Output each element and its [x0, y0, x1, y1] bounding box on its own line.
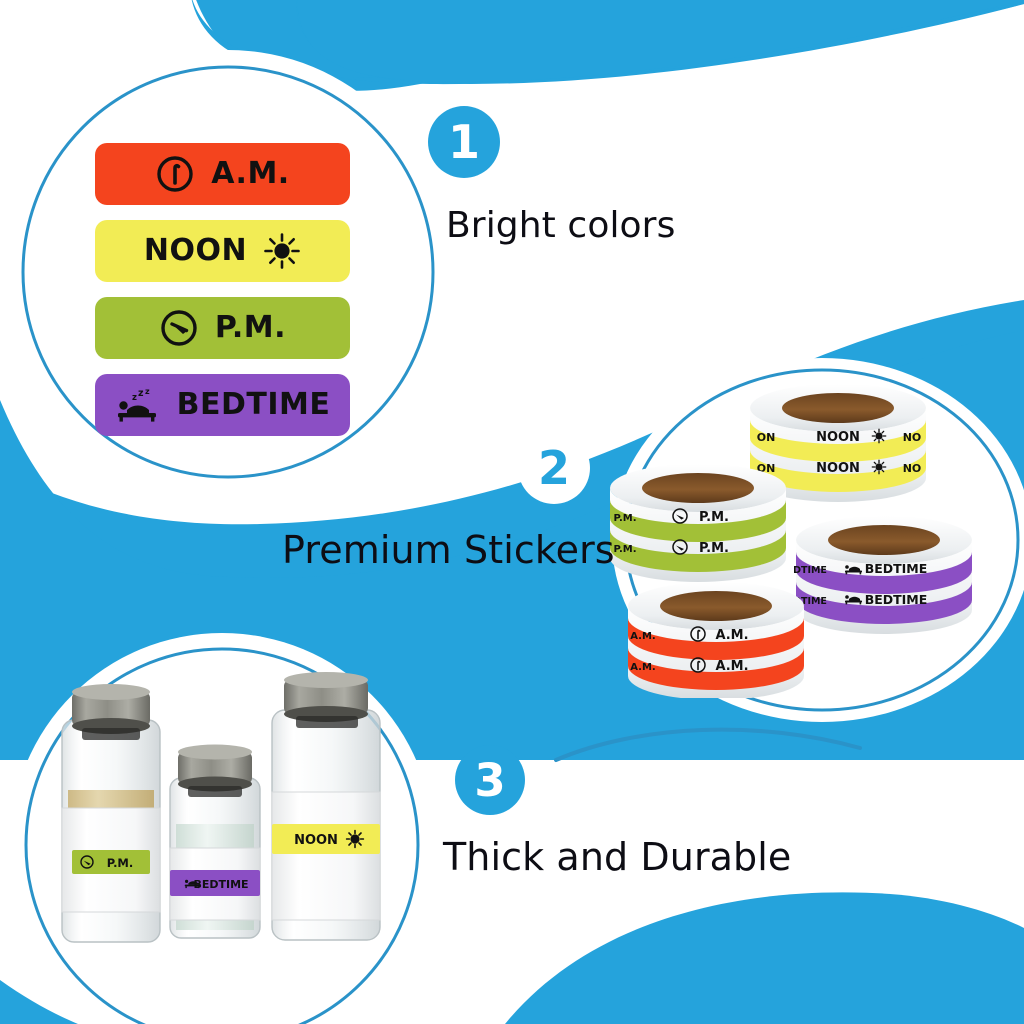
feature-caption-bright-colors: Bright colors [446, 205, 675, 246]
step-badge-2-number: 2 [538, 445, 570, 491]
svg-text:P.M.: P.M. [613, 544, 636, 555]
svg-text:A.M.: A.M. [715, 628, 748, 643]
vial-noon: NOON [272, 672, 380, 940]
step-badge-1: 1 [428, 106, 500, 178]
label-chip-am-text: A.M. [211, 159, 289, 189]
roll-pm: P.M. P.M. P.M. P.M. [610, 464, 786, 582]
roll-am: A.M. A.M. A.M. A.M. [628, 582, 804, 698]
roll-bedtime: BEDTIME BEDTIME DTIME DTIME [793, 516, 972, 634]
svg-text:NOON: NOON [816, 461, 860, 476]
clock-evening-icon [159, 308, 199, 348]
vial-pm: P.M. [62, 684, 160, 942]
svg-text:NOON: NOON [816, 430, 860, 445]
step-badge-2: 2 [518, 432, 590, 504]
sticker-roll-cluster: NOON NOON [600, 378, 1000, 698]
sun-icon [263, 232, 301, 270]
step-badge-3-number: 3 [474, 758, 505, 803]
svg-text:A.M.: A.M. [715, 659, 748, 674]
feature-caption-premium-stickers: Premium Stickers [282, 528, 615, 572]
svg-text:A.M.: A.M. [630, 662, 655, 673]
label-chip-am[interactable]: A.M. [95, 143, 350, 205]
label-chip-bedtime-text: BEDTIME [177, 390, 331, 420]
bed-sleep-icon: z z z [115, 387, 161, 423]
svg-text:ON: ON [757, 431, 776, 444]
svg-text:P.M.: P.M. [699, 510, 729, 525]
infographic-canvas: A.M. NOON [0, 0, 1024, 1024]
clock-morning-icon [155, 154, 195, 194]
svg-text:A.M.: A.M. [630, 631, 655, 642]
svg-text:z: z [145, 387, 150, 396]
svg-text:P.M.: P.M. [699, 541, 729, 556]
label-chip-pm[interactable]: P.M. [95, 297, 350, 359]
svg-text:BEDTIME: BEDTIME [865, 561, 928, 576]
svg-text:NOON: NOON [294, 833, 338, 848]
svg-text:NO: NO [903, 431, 922, 444]
feature-caption-thick-and-durable: Thick and Durable [443, 835, 791, 879]
label-chip-noon[interactable]: NOON [95, 220, 350, 282]
vial-bedtime: BEDTIME [170, 745, 260, 939]
svg-text:NO: NO [903, 462, 922, 475]
svg-text:P.M.: P.M. [107, 856, 134, 870]
step-badge-1-number: 1 [448, 119, 480, 165]
svg-text:z: z [132, 393, 137, 403]
svg-text:P.M.: P.M. [613, 513, 636, 524]
label-chip-noon-text: NOON [144, 236, 247, 266]
svg-text:DTIME: DTIME [793, 565, 827, 576]
svg-text:z: z [138, 388, 144, 399]
svg-text:BEDTIME: BEDTIME [193, 878, 248, 891]
vial-cluster: P.M. BEDTIME [20, 672, 420, 1002]
label-chip-bedtime[interactable]: z z z BEDTIME [95, 374, 350, 436]
bottom-blue-swoosh-body [505, 892, 1024, 1024]
step-badge-3: 3 [455, 745, 525, 815]
svg-text:BEDTIME: BEDTIME [865, 592, 928, 607]
label-chip-pm-text: P.M. [215, 313, 286, 343]
